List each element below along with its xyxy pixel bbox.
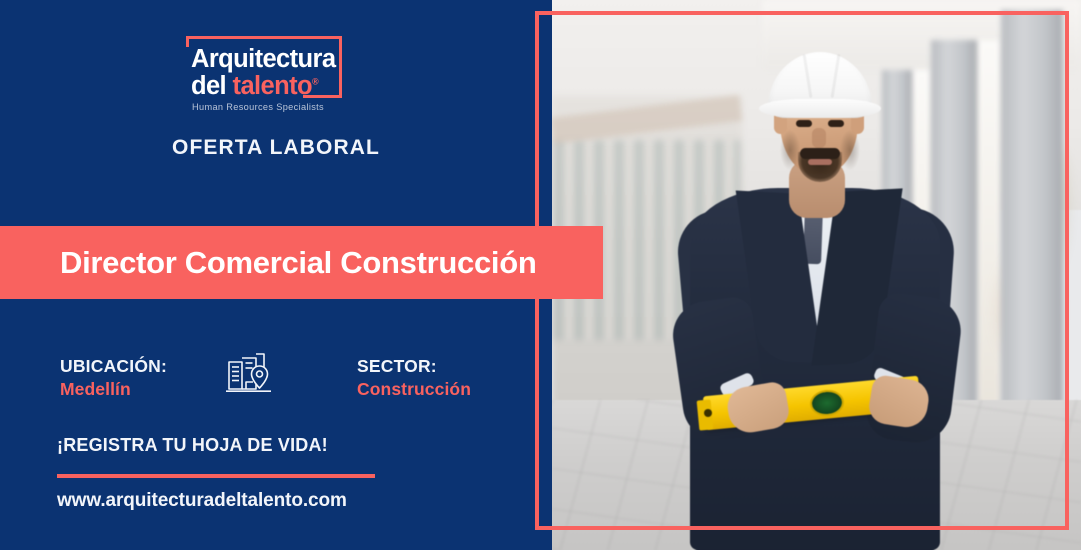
job-title-banner: Director Comercial Construcción [0, 226, 603, 299]
coral-divider [57, 474, 375, 478]
job-title: Director Comercial Construcción [60, 245, 536, 281]
spirit-level-hole [704, 409, 712, 417]
person-lips [808, 159, 832, 165]
person-cheek-left [780, 130, 800, 170]
logo-word-del: del [191, 72, 226, 100]
person-eye-left [796, 120, 812, 127]
registered-mark-icon: ® [312, 77, 318, 87]
location-value: Medellín [60, 378, 167, 401]
logo-word-talento: talento [233, 72, 312, 100]
call-to-action-text: ¡REGISTRA TU HOJA DE VIDA! [57, 435, 328, 456]
photo-person [552, 0, 1081, 550]
location-label: UBICACIÓN: [60, 356, 167, 378]
sector-label: SECTOR: [357, 356, 471, 378]
sector-group: SECTOR: Construcción [357, 356, 471, 401]
sector-value: Construcción [357, 378, 471, 401]
hero-photo [552, 0, 1081, 550]
city-buildings-location-pin-icon [224, 348, 274, 396]
brand-logo[interactable]: Arquitectura del talento® Human Resource… [185, 33, 355, 113]
location-group: UBICACIÓN: Medellín [60, 356, 167, 401]
logo-tagline: Human Resources Specialists [192, 102, 324, 112]
info-row: UBICACIÓN: Medellín SECTOR: Construcción [0, 356, 552, 412]
person-moustache [800, 148, 840, 159]
page-eyebrow: OFERTA LABORAL [0, 136, 552, 160]
person-eye-right [828, 120, 844, 127]
website-link[interactable]: www.arquitecturadeltalento.com [57, 490, 347, 512]
person-nose [812, 128, 826, 148]
logo-line-2: del talento® [191, 74, 318, 100]
logo-line-1: Arquitectura [191, 47, 335, 73]
person-cheek-right [840, 130, 860, 170]
job-offer-poster: Arquitectura del talento® Human Resource… [0, 0, 1081, 550]
hard-hat-brim [759, 99, 881, 118]
